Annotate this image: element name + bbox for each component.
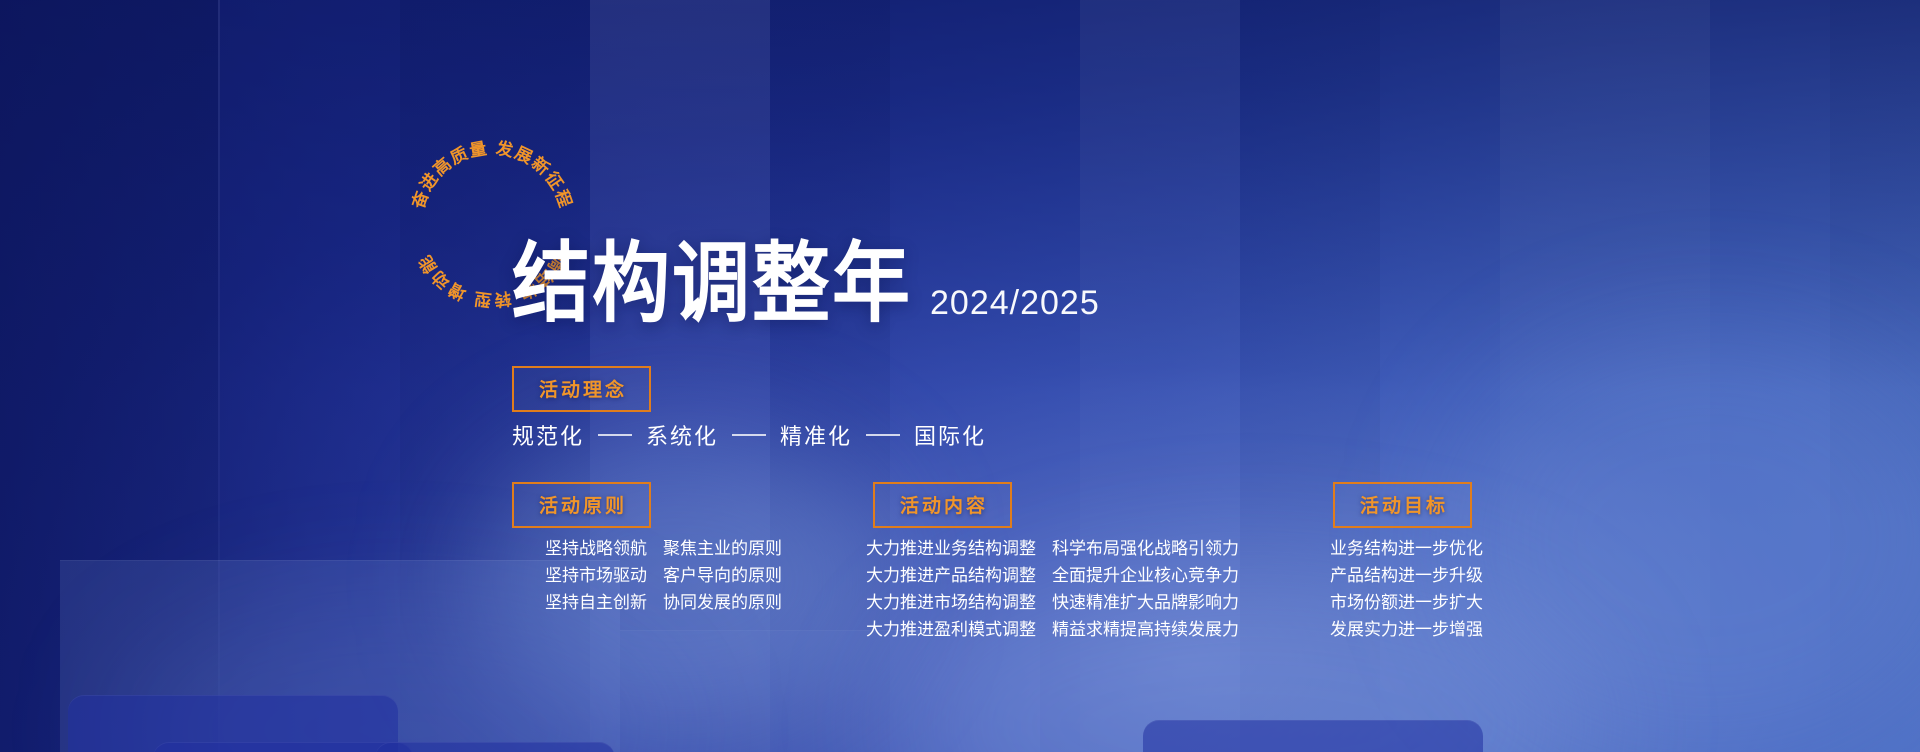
list-item: 坚持自主创新 协同发展的原则 xyxy=(545,589,782,616)
list-item: 坚持市场驱动 客户导向的原则 xyxy=(545,562,782,589)
section-goals-list: 业务结构进一步优化 产品结构进一步升级 市场份额进一步扩大 发展实力进一步增强 xyxy=(1330,535,1483,643)
badge-activity-concept[interactable]: 活动理念 xyxy=(512,366,651,412)
list-item: 大力推进市场结构调整 快速精准扩大品牌影响力 xyxy=(866,589,1239,616)
list-item-part-b: 全面提升企业核心竞争力 xyxy=(1052,562,1239,589)
background-rect xyxy=(1143,720,1483,752)
background-rect xyxy=(375,742,615,752)
list-item-part-b: 协同发展的原则 xyxy=(663,589,782,616)
concept-item-1: 规范化 xyxy=(512,419,584,451)
list-item: 坚持战略领航 聚焦主业的原则 xyxy=(545,535,782,562)
list-item-part-a: 大力推进业务结构调整 xyxy=(866,535,1036,562)
section-principles-list: 坚持战略领航 聚焦主业的原则 坚持市场驱动 客户导向的原则 坚持自主创新 协同发… xyxy=(545,535,782,616)
concept-separator-icon xyxy=(866,434,900,436)
list-item: 市场份额进一步扩大 xyxy=(1330,589,1483,616)
badge-activity-principles[interactable]: 活动原则 xyxy=(512,482,651,528)
badge-activity-goals[interactable]: 活动目标 xyxy=(1333,482,1472,528)
list-item-part-b: 精益求精提高持续发展力 xyxy=(1052,616,1239,643)
list-item-part-a: 大力推进市场结构调整 xyxy=(866,589,1036,616)
list-item-part-a: 大力推进盈利模式调整 xyxy=(866,616,1036,643)
list-item-part-b: 市场份额进一步扩大 xyxy=(1330,589,1483,616)
list-item-part-a: 坚持自主创新 xyxy=(545,589,647,616)
banner-root: 奋进高质量 发展新征程 调结构 转型 增动能 结构调整年 2024/2025 活… xyxy=(0,0,1920,752)
background-panel xyxy=(620,630,1040,752)
badge-activity-content[interactable]: 活动内容 xyxy=(873,482,1012,528)
background-rect xyxy=(153,742,413,752)
title-years: 2024/2025 xyxy=(930,286,1100,320)
concept-line: 规范化 系统化 精准化 国际化 xyxy=(512,419,986,451)
page-title: 结构调整年 xyxy=(512,241,912,328)
list-item-part-a: 大力推进产品结构调整 xyxy=(866,562,1036,589)
list-item-part-b: 聚焦主业的原则 xyxy=(663,535,782,562)
list-item-part-b: 产品结构进一步升级 xyxy=(1330,562,1483,589)
list-item-part-b: 快速精准扩大品牌影响力 xyxy=(1052,589,1239,616)
concept-separator-icon xyxy=(732,434,766,436)
concept-item-4: 国际化 xyxy=(914,419,986,451)
title-row: 结构调整年 2024/2025 xyxy=(512,250,1100,328)
list-item-part-a: 坚持战略领航 xyxy=(545,535,647,562)
list-item: 大力推进业务结构调整 科学布局强化战略引领力 xyxy=(866,535,1239,562)
list-item-part-b: 发展实力进一步增强 xyxy=(1330,616,1483,643)
list-item: 产品结构进一步升级 xyxy=(1330,562,1483,589)
list-item: 发展实力进一步增强 xyxy=(1330,616,1483,643)
list-item: 大力推进盈利模式调整 精益求精提高持续发展力 xyxy=(866,616,1239,643)
list-item: 业务结构进一步优化 xyxy=(1330,535,1483,562)
concept-item-3: 精准化 xyxy=(780,419,852,451)
list-item-part-b: 业务结构进一步优化 xyxy=(1330,535,1483,562)
concept-item-2: 系统化 xyxy=(646,419,718,451)
list-item: 大力推进产品结构调整 全面提升企业核心竞争力 xyxy=(866,562,1239,589)
seal-top-text: 奋进高质量 发展新征程 xyxy=(407,138,575,213)
list-item-part-b: 科学布局强化战略引领力 xyxy=(1052,535,1239,562)
concept-separator-icon xyxy=(598,434,632,436)
list-item-part-b: 客户导向的原则 xyxy=(663,562,782,589)
section-content-list: 大力推进业务结构调整 科学布局强化战略引领力 大力推进产品结构调整 全面提升企业… xyxy=(866,535,1239,643)
list-item-part-a: 坚持市场驱动 xyxy=(545,562,647,589)
